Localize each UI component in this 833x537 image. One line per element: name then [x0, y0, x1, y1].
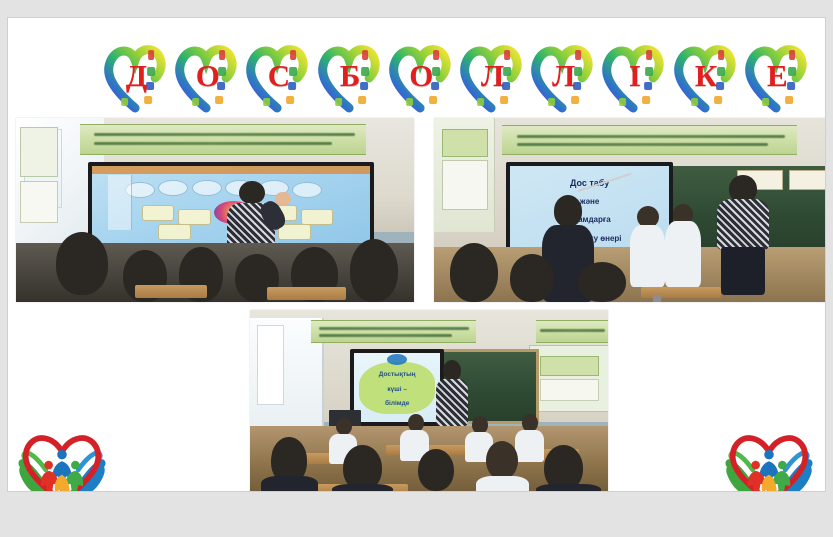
classroom-presentation-photo — [16, 118, 414, 302]
heart-hands-people-logo — [14, 425, 110, 492]
title-letter: Б — [315, 60, 386, 91]
screen-line-2: күші – — [358, 386, 437, 393]
heart-tile: Б — [315, 34, 386, 116]
wall-banner — [80, 124, 367, 155]
title-letter: О — [386, 60, 457, 91]
heart-hands-people-logo — [721, 425, 817, 492]
title-letter: І — [599, 60, 670, 91]
screen-line-1: Достықтың — [358, 371, 437, 378]
title-banner: Д О — [101, 34, 813, 116]
wall-banner-right — [536, 320, 608, 343]
slide-viewer: Д О — [0, 0, 833, 537]
title-letter: Л — [457, 60, 528, 91]
title-letter: Л — [528, 60, 599, 91]
heart-tile: Д — [101, 34, 172, 116]
screen-line-3: білімде — [358, 400, 437, 407]
heart-tile: Л — [457, 34, 528, 116]
heart-tile: О — [386, 34, 457, 116]
heart-tile: К — [671, 34, 742, 116]
heart-tile: О — [172, 34, 243, 116]
title-letter: О — [172, 60, 243, 91]
wall-banner — [502, 125, 797, 155]
heart-tile: І — [599, 34, 670, 116]
wall-banner — [311, 320, 476, 343]
title-letter: Д — [101, 60, 172, 91]
lesson-screen: Достықтың күші – білімде — [350, 349, 444, 426]
classroom-lesson-photo: Достықтың күші – білімде — [250, 310, 608, 492]
heart-tile: С — [243, 34, 314, 116]
heart-tile: Е — [742, 34, 813, 116]
presentation-slide: Д О — [7, 17, 826, 492]
classroom-board-photo: Дос табу және адамдарға ықпал ету өнері — [434, 118, 826, 302]
title-letter: Е — [742, 60, 813, 91]
screen-line-2: және — [519, 198, 659, 207]
title-letter: С — [243, 60, 314, 91]
heart-tile: Л — [528, 34, 599, 116]
title-letter: К — [671, 60, 742, 91]
